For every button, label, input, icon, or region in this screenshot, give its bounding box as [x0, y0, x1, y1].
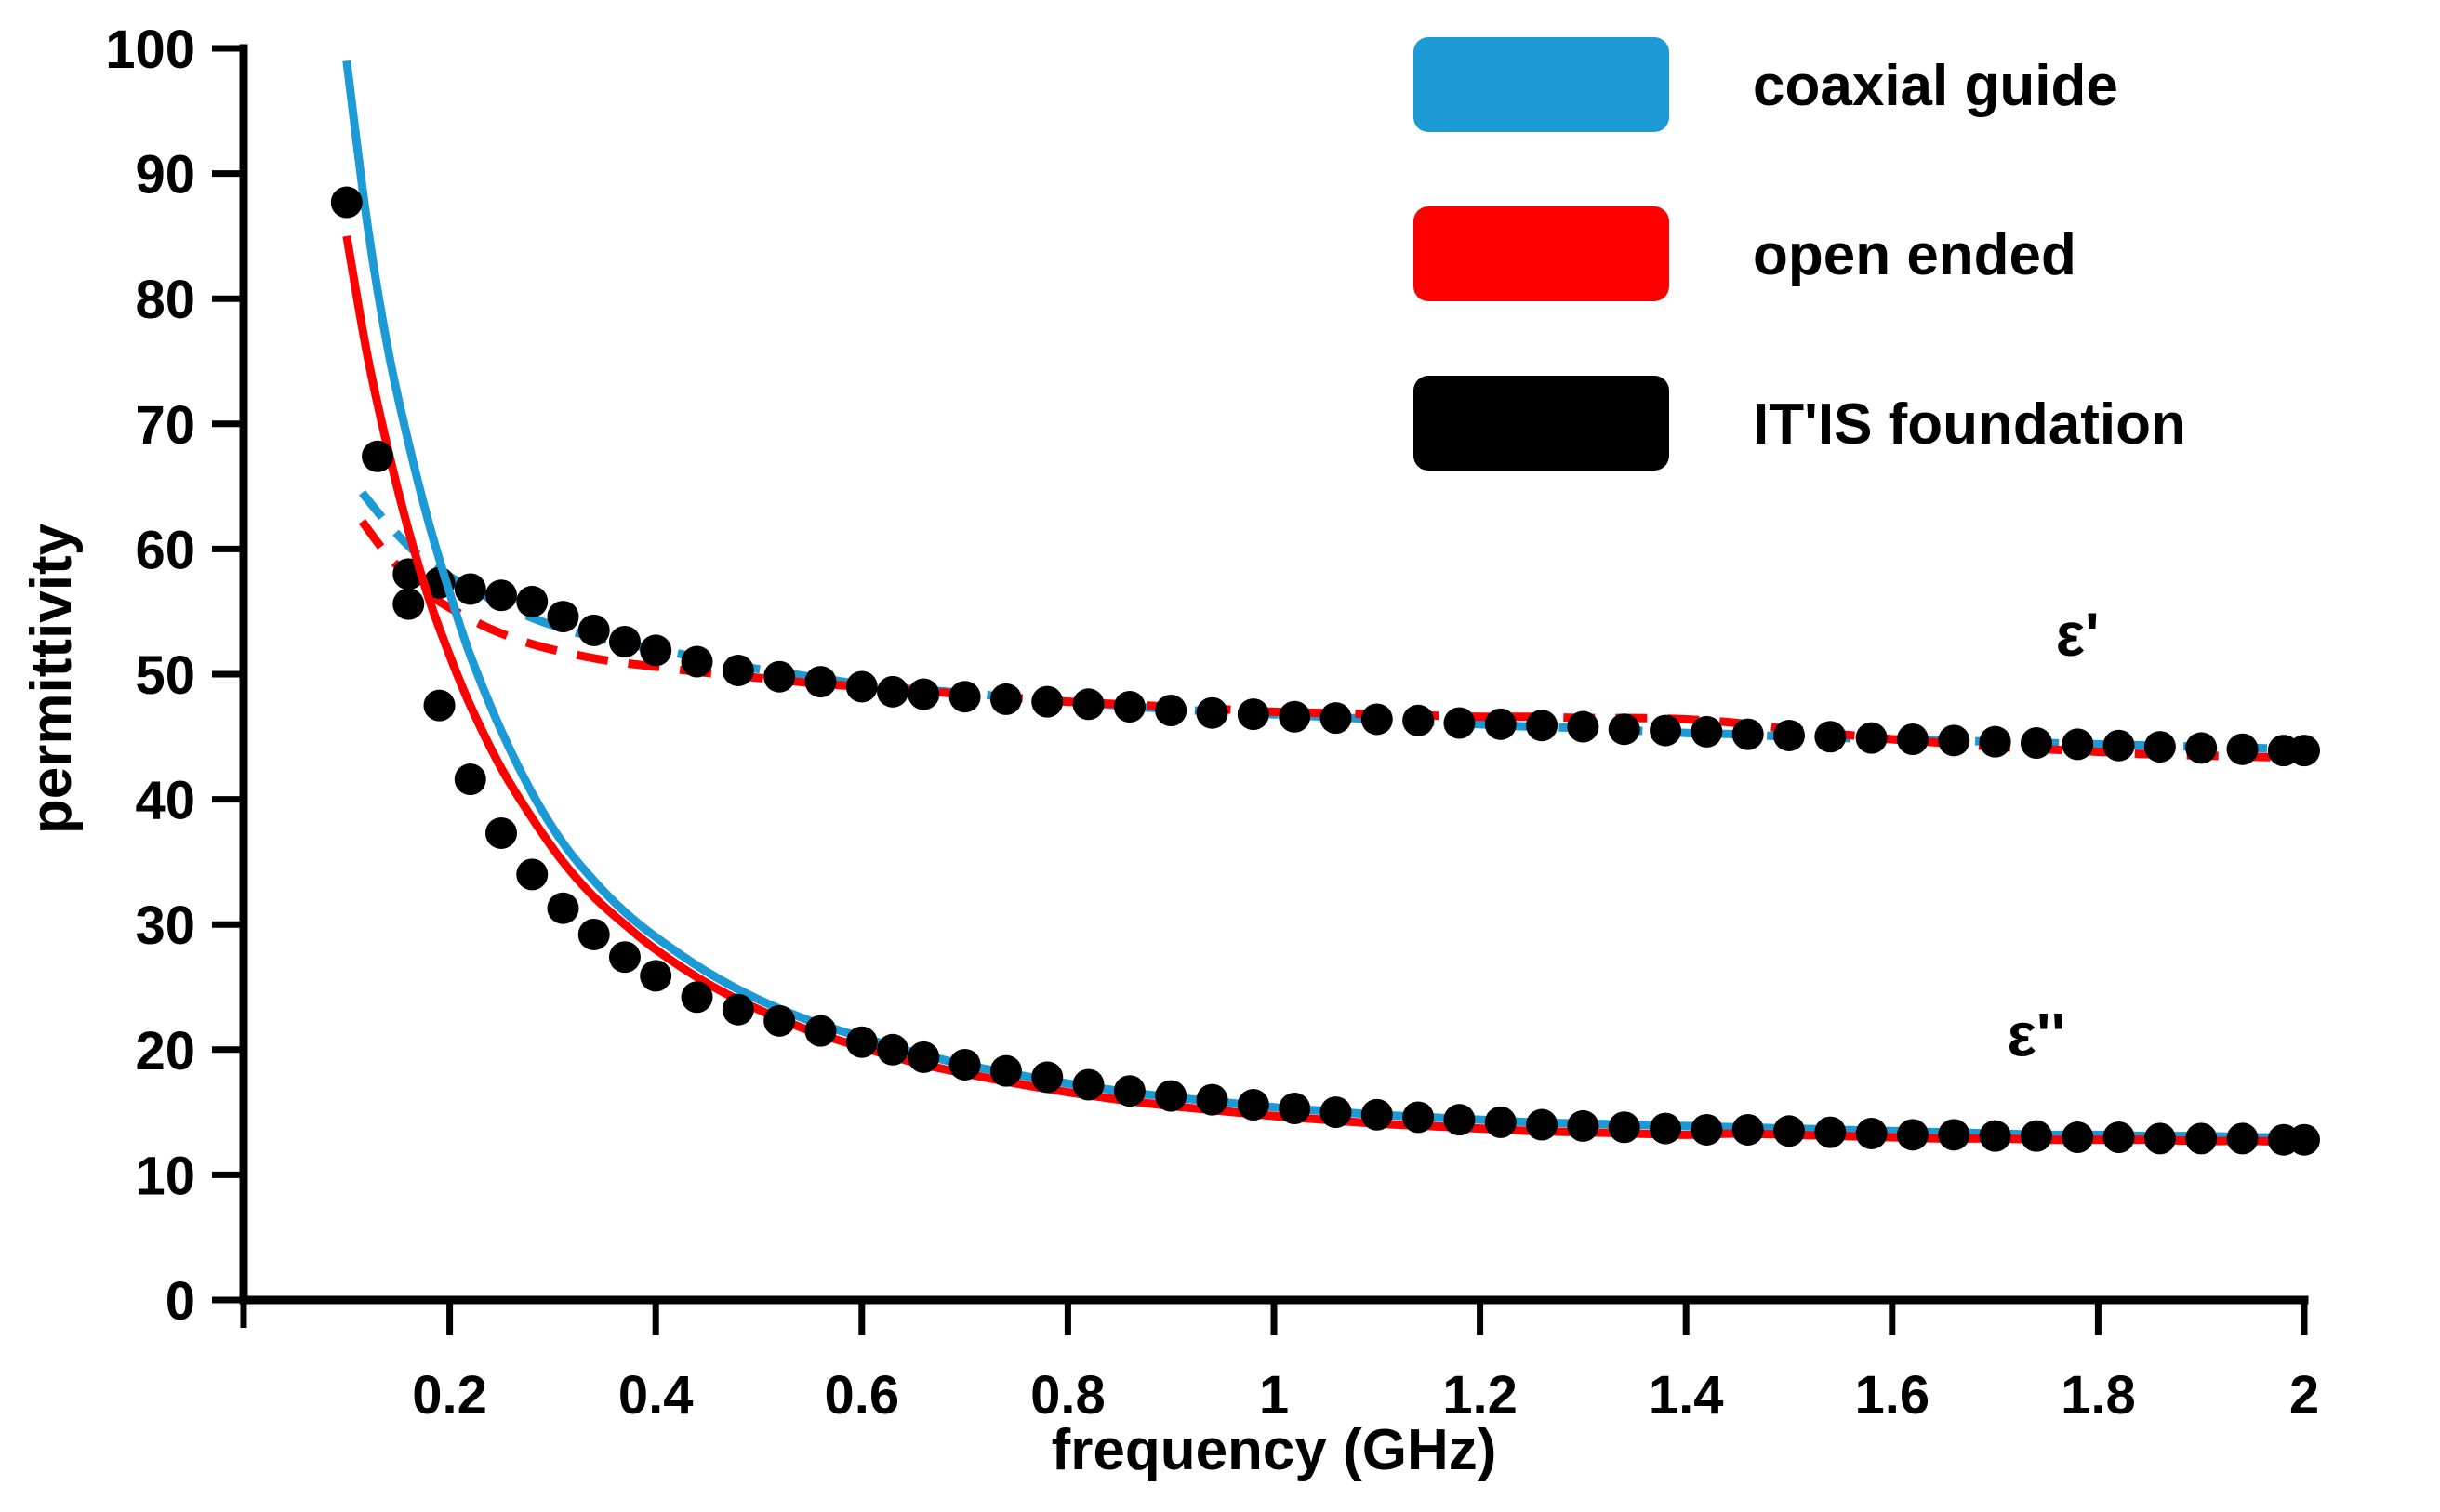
- data-point-marker: [2227, 1122, 2259, 1154]
- data-point-marker: [1197, 697, 1228, 729]
- data-point-marker: [609, 941, 641, 973]
- data-point-marker: [2227, 734, 2259, 765]
- data-point-marker: [1114, 691, 1146, 723]
- data-point-marker: [485, 817, 517, 849]
- data-point-marker: [547, 601, 578, 632]
- y-tick-label: 80: [135, 270, 195, 330]
- epsilon-prime-annotation: ε': [2056, 600, 2100, 669]
- data-point-marker: [1155, 1081, 1187, 1112]
- y-tick-label: 20: [135, 1021, 195, 1081]
- epsilon-double-prime-annotation: ε'': [2008, 1001, 2066, 1069]
- data-point-marker: [1732, 1114, 1764, 1146]
- y-tick-label: 50: [135, 645, 195, 706]
- data-point-marker: [1773, 720, 1805, 751]
- data-point-marker: [723, 994, 754, 1026]
- data-point-marker: [1526, 710, 1558, 741]
- legend-swatch: [1413, 37, 1669, 132]
- data-point-marker: [846, 670, 878, 702]
- data-point-marker: [1319, 702, 1351, 734]
- data-point-marker: [2021, 1121, 2052, 1152]
- data-point-marker: [1609, 713, 1640, 745]
- data-point-marker: [1031, 686, 1063, 718]
- x-tick-label: 0.2: [412, 1365, 487, 1426]
- data-point-marker: [1814, 721, 1846, 752]
- data-point-marker: [1691, 1114, 1722, 1146]
- data-point-marker: [640, 960, 671, 991]
- x-tick-label: 1.2: [1442, 1365, 1518, 1426]
- data-point-marker: [2185, 1122, 2217, 1154]
- y-tick-label: 0: [166, 1271, 195, 1332]
- data-point-marker: [2103, 1121, 2135, 1153]
- x-tick-label: 2: [2289, 1365, 2319, 1426]
- data-point-marker: [1238, 1089, 1269, 1121]
- data-point-marker: [2185, 732, 2217, 763]
- data-point-marker: [1402, 705, 1434, 736]
- data-point-marker: [990, 683, 1022, 715]
- data-point-marker: [516, 858, 548, 890]
- data-point-marker: [990, 1055, 1022, 1087]
- x-tick-label: 1.4: [1649, 1365, 1724, 1426]
- data-point-marker: [1526, 1109, 1558, 1141]
- chart-figure: 0102030405060708090100 0.20.40.60.811.21…: [0, 0, 2440, 1512]
- data-point-marker: [1073, 1068, 1105, 1100]
- data-point-marker: [877, 676, 908, 708]
- data-point-marker: [2144, 1122, 2176, 1154]
- data-point-marker: [331, 187, 363, 219]
- data-point-marker: [1609, 1111, 1640, 1143]
- data-point-marker: [362, 441, 393, 472]
- data-point-marker: [1691, 716, 1722, 748]
- x-tick-label: 0.4: [618, 1365, 694, 1426]
- data-point-marker: [2062, 1121, 2093, 1153]
- x-tick-label: 1: [1259, 1365, 1289, 1426]
- y-tick-label: 60: [135, 520, 195, 580]
- y-axis-title: permittivity: [20, 523, 84, 834]
- data-point-marker: [1650, 715, 1681, 747]
- data-point-marker: [2062, 728, 2093, 760]
- data-point-marker: [1650, 1113, 1681, 1145]
- data-point-marker: [455, 573, 486, 604]
- data-point-marker: [1485, 709, 1517, 740]
- data-point-marker: [804, 1015, 836, 1047]
- legend-label: open ended: [1753, 223, 2076, 287]
- permittivity-vs-frequency-chart: 0102030405060708090100 0.20.40.60.811.21…: [0, 0, 2440, 1512]
- legend-label: coaxial guide: [1753, 54, 2118, 118]
- data-point-marker: [1773, 1115, 1805, 1147]
- y-tick-label: 10: [135, 1146, 195, 1206]
- data-point-marker: [424, 690, 456, 722]
- data-point-marker: [1361, 703, 1393, 735]
- data-point-marker: [1897, 1119, 1929, 1150]
- data-point-marker: [1402, 1101, 1434, 1133]
- data-point-marker: [682, 981, 713, 1013]
- data-point-marker: [516, 586, 548, 617]
- data-point-marker: [804, 666, 836, 697]
- data-point-marker: [1279, 1093, 1310, 1124]
- data-point-marker: [2144, 731, 2176, 763]
- data-point-marker: [682, 646, 713, 678]
- y-tick-label: 100: [105, 20, 195, 80]
- data-point-marker: [1938, 1119, 1969, 1150]
- data-point-marker: [1114, 1075, 1146, 1107]
- data-point-marker: [1980, 1121, 2011, 1152]
- data-point-marker: [1279, 701, 1310, 733]
- data-point-marker: [2288, 1124, 2320, 1156]
- data-point-marker: [2103, 730, 2135, 762]
- data-point-marker: [1732, 719, 1764, 750]
- data-point-marker: [1567, 1110, 1598, 1142]
- chart-legend: coaxial guideopen endedIT'IS foundation: [1413, 37, 2186, 471]
- data-point-marker: [1938, 724, 1969, 756]
- data-point-marker: [485, 579, 517, 611]
- x-tick-label: 1.8: [2061, 1365, 2136, 1426]
- data-point-marker: [1073, 688, 1105, 720]
- legend-label: IT'IS foundation: [1753, 392, 2186, 457]
- x-tick-label: 0.6: [824, 1365, 899, 1426]
- data-point-marker: [1319, 1096, 1351, 1128]
- data-point-marker: [392, 589, 424, 620]
- data-point-marker: [547, 893, 578, 924]
- data-point-marker: [763, 1005, 795, 1037]
- data-point-marker: [1856, 723, 1888, 754]
- x-tick-label: 1.6: [1854, 1365, 1929, 1426]
- data-point-marker: [1443, 1104, 1475, 1135]
- data-point-marker: [455, 763, 486, 795]
- y-tick-label: 30: [135, 895, 195, 956]
- data-point-marker: [1897, 723, 1929, 755]
- data-point-marker: [908, 1041, 939, 1073]
- data-point-marker: [2021, 727, 2052, 759]
- data-point-marker: [763, 661, 795, 693]
- data-point-marker: [1197, 1084, 1228, 1116]
- data-point-marker: [908, 679, 939, 710]
- data-point-marker: [1443, 707, 1475, 738]
- y-tick-label: 40: [135, 771, 195, 831]
- data-point-marker: [949, 681, 981, 712]
- data-point-marker: [1155, 695, 1187, 726]
- y-tick-label: 90: [135, 145, 195, 206]
- data-point-marker: [1814, 1117, 1846, 1148]
- data-point-marker: [578, 615, 610, 646]
- data-point-marker: [609, 626, 641, 657]
- x-tick-label: 0.8: [1030, 1365, 1106, 1426]
- data-point-marker: [1567, 711, 1598, 743]
- data-point-marker: [1980, 726, 2011, 758]
- data-point-marker: [1238, 698, 1269, 730]
- data-point-marker: [640, 634, 671, 666]
- data-point-marker: [1361, 1099, 1393, 1131]
- data-point-marker: [877, 1034, 908, 1066]
- data-point-marker: [949, 1049, 981, 1081]
- data-point-marker: [2288, 735, 2320, 766]
- data-point-marker: [723, 655, 754, 686]
- legend-swatch: [1413, 206, 1669, 301]
- x-axis-title: frequency (GHz): [1052, 1418, 1497, 1482]
- data-point-marker: [1856, 1118, 1888, 1149]
- data-point-marker: [578, 919, 610, 950]
- y-tick-label: 70: [135, 395, 195, 456]
- data-point-marker: [846, 1027, 878, 1058]
- data-point-marker: [1485, 1107, 1517, 1138]
- data-point-marker: [1031, 1061, 1063, 1093]
- legend-swatch: [1413, 376, 1669, 471]
